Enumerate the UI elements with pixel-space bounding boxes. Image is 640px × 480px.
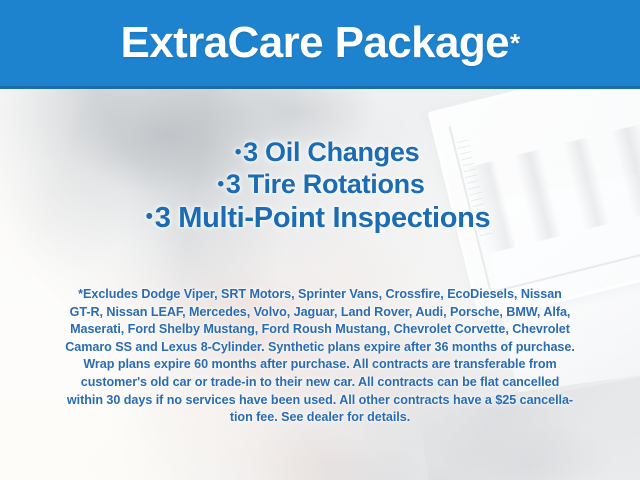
- page-title-text: ExtraCare Package: [120, 21, 509, 65]
- disclaimer-text: *Excludes Dodge Viper, SRT Motors, Sprin…: [18, 286, 622, 427]
- benefits-list: •3 Oil Changes •3 Tire Rotations •3 Mult…: [0, 136, 640, 236]
- bullet-dot-icon: •: [217, 173, 224, 195]
- disclaimer-line: within 30 days if no services have been …: [18, 392, 622, 410]
- disclaimer-line: *Excludes Dodge Viper, SRT Motors, Sprin…: [18, 286, 622, 304]
- disclaimer-line: Wrap plans expire 60 months after purcha…: [18, 356, 622, 374]
- page-title: ExtraCare Package*: [0, 0, 640, 86]
- bullet-dot-icon: •: [235, 141, 242, 163]
- list-item-label: 3 Tire Rotations: [226, 169, 425, 199]
- disclaimer-line: Camaro SS and Lexus 8-Cylinder. Syntheti…: [18, 339, 622, 357]
- header-bottom-rule: [0, 86, 640, 89]
- extracare-promo-banner: ExtraCare Package* •3 Oil Changes •3 Tir…: [0, 0, 640, 480]
- list-item-label: 3 Oil Changes: [243, 137, 419, 167]
- list-item-label: 3 Multi-Point Inspections: [155, 202, 491, 234]
- list-item: •3 Tire Rotations: [0, 168, 640, 200]
- bullet-dot-icon: •: [146, 205, 153, 228]
- list-item: •3 Multi-Point Inspections: [0, 201, 640, 236]
- disclaimer-line: customer's old car or trade-in to their …: [18, 374, 622, 392]
- disclaimer-line: GT-R, Nissan LEAF, Mercedes, Volvo, Jagu…: [18, 304, 622, 322]
- list-item: •3 Oil Changes: [0, 136, 640, 168]
- disclaimer-line: Maserati, Ford Shelby Mustang, Ford Rous…: [18, 321, 622, 339]
- disclaimer-line: tion fee. See dealer for details.: [18, 409, 622, 427]
